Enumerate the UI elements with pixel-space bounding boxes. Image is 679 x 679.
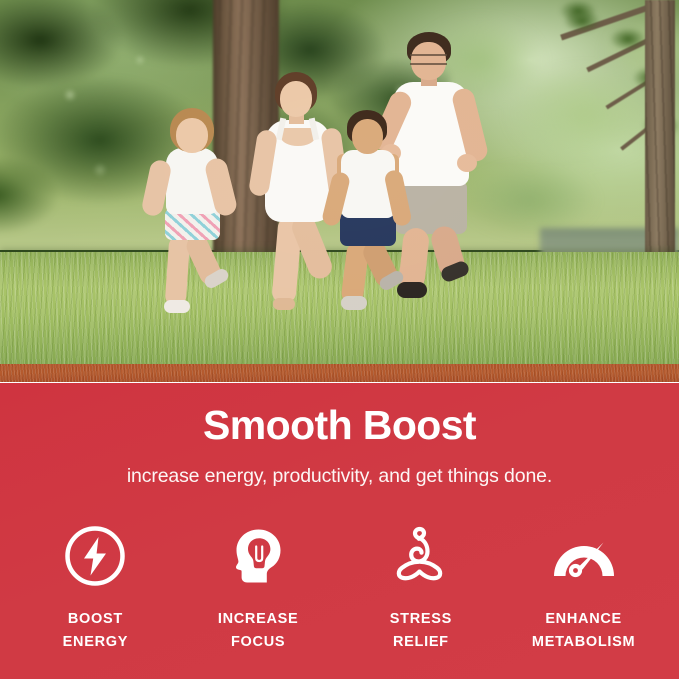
banner-canvas: Smooth Boost increase energy, productivi… [0,0,679,679]
feature-list: BOOST ENERGY INCREASE FOCUS [14,523,665,654]
meditating-figure-icon [388,523,454,589]
feature-enhance-metabolism[interactable]: ENHANCE METABOLISM [502,523,665,654]
feature-label: BOOST ENERGY [63,608,128,654]
lifestyle-photo [0,0,679,382]
soil-strip [0,364,679,382]
promo-panel: Smooth Boost increase energy, productivi… [0,383,679,679]
feature-stress-relief[interactable]: STRESS RELIEF [340,523,503,654]
feature-label: ENHANCE METABOLISM [532,608,635,654]
person-boy-running [325,110,423,312]
head-with-lightbulb-icon [225,523,291,589]
feature-increase-focus[interactable]: INCREASE FOCUS [177,523,340,654]
leaf-cluster [560,8,604,34]
lightning-bolt-in-circle-icon [62,523,128,589]
speedometer-gauge-icon [551,523,617,589]
person-girl-running [148,108,252,313]
feature-label: INCREASE FOCUS [218,608,299,654]
feature-label: STRESS RELIEF [390,608,452,654]
page-subtitle: increase energy, productivity, and get t… [0,465,679,488]
feature-boost-energy[interactable]: BOOST ENERGY [14,523,177,654]
page-title: Smooth Boost [0,405,679,446]
